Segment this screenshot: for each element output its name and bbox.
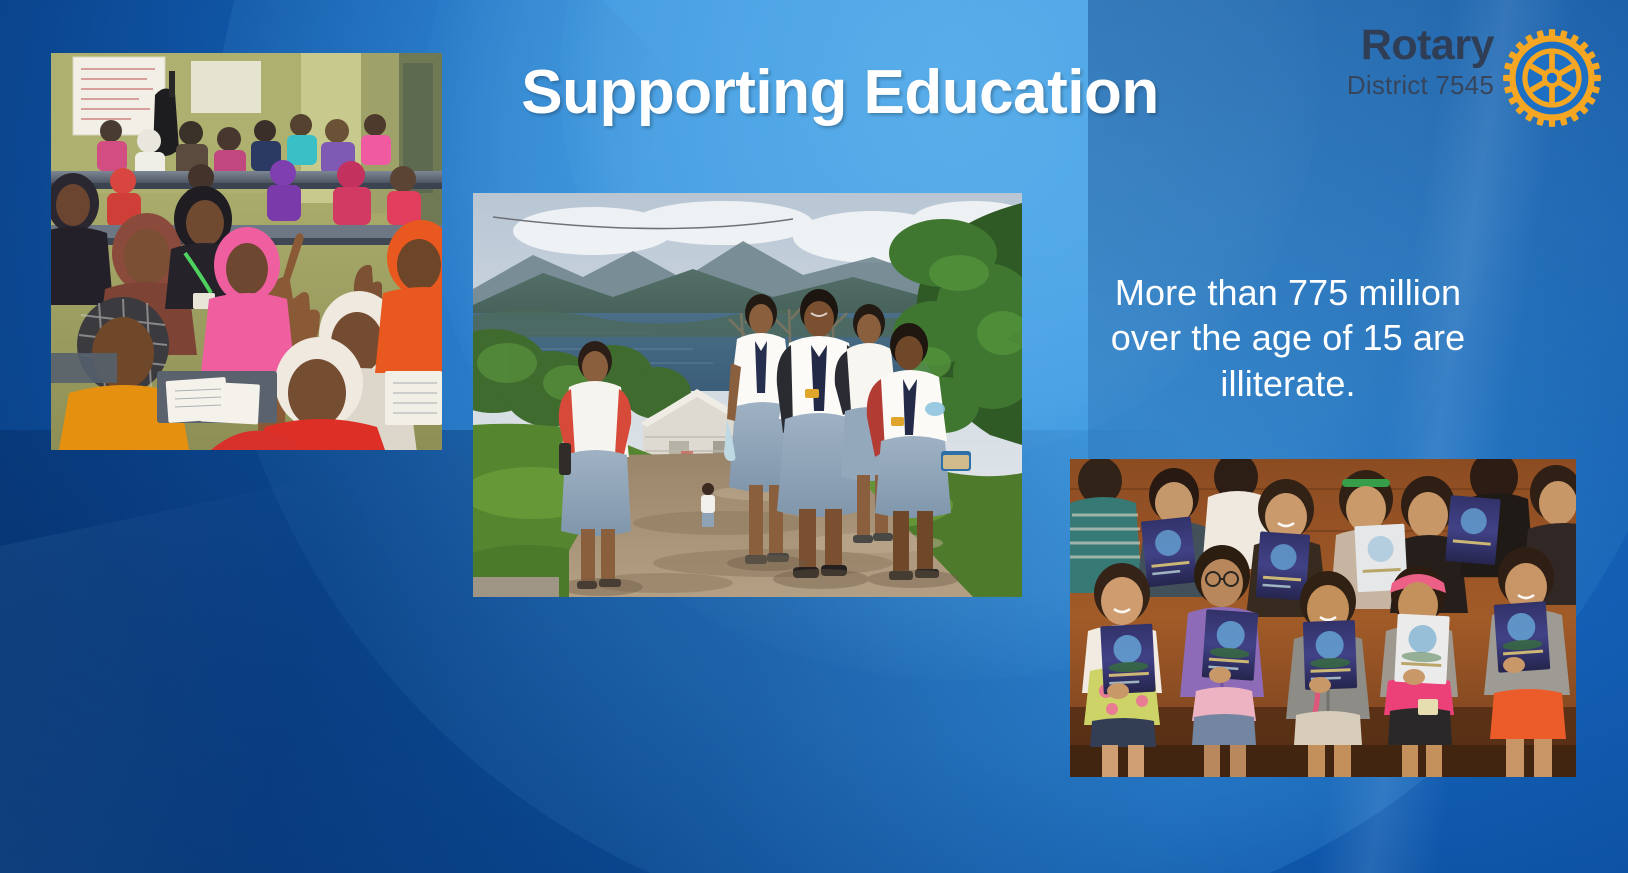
photo-classroom-students-raising-hands — [51, 53, 442, 450]
slide-title: Supporting Education — [400, 60, 1280, 125]
photo-children-holding-dictionaries — [1070, 459, 1576, 777]
rotary-logo: Rotary District 7545 — [1310, 24, 1610, 136]
rotary-logo-text: Rotary District 7545 — [1314, 24, 1494, 102]
rotary-wheel-icon: ROTARY INTERNATIONAL — [1500, 26, 1604, 130]
rotary-brand-name: Rotary — [1314, 24, 1494, 67]
rotary-district-label: District 7545 — [1314, 69, 1494, 102]
illiteracy-statement: More than 775 million over the age of 15… — [1078, 270, 1498, 406]
presentation-slide: Supporting Education Rotary District 754… — [0, 0, 1628, 873]
photo-students-walking-to-school — [473, 193, 1022, 597]
